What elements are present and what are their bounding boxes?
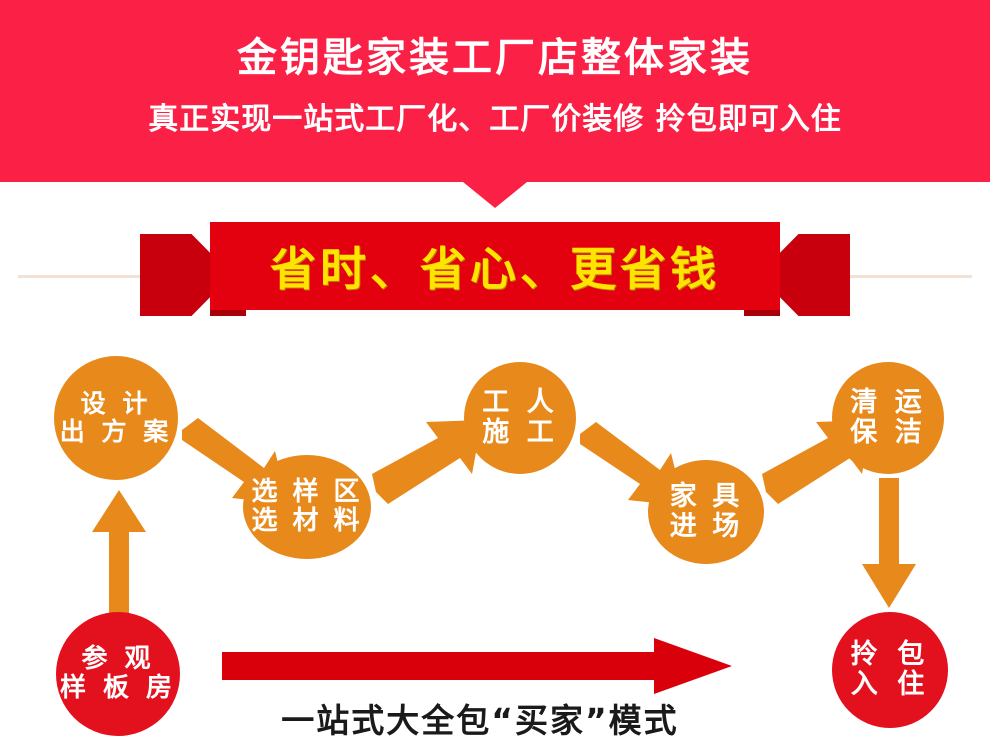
flow-node-cleanup-line2: 保 洁: [850, 418, 925, 448]
flow-node-design[interactable]: 设 计 出 方 案: [54, 356, 178, 480]
flow-node-movein-line2: 入 住: [851, 670, 929, 700]
arrow-showroom-to-design: [92, 490, 146, 615]
flow-node-showroom-line2: 样 板 房: [60, 674, 176, 703]
flow-node-movein-line1: 拎 包: [851, 640, 929, 670]
flow-node-select-materials[interactable]: 选 样 区 选 材 料: [243, 455, 371, 559]
flow-node-furniture-line2: 进 场: [670, 512, 742, 542]
bottom-process-arrow: [222, 638, 732, 694]
flow-node-construct-line2: 施 工: [482, 418, 557, 448]
flow-node-showroom-line1: 参 观: [81, 645, 154, 674]
flow-node-showroom-visit[interactable]: 参 观 样 板 房: [56, 612, 180, 736]
flow-node-construct-line1: 工 人: [482, 388, 557, 418]
flow-node-cleanup[interactable]: 清 运 保 洁: [832, 362, 944, 474]
bottom-caption: 一站式大全包“买家”模式: [180, 694, 780, 742]
process-flow-diagram: 设 计 出 方 案 选 样 区 选 材 料 工 人 施 工 家 具 进 场 清 …: [0, 0, 990, 746]
arrow-cleanup-to-movein: [862, 478, 916, 608]
flow-node-furniture-line1: 家 具: [670, 482, 742, 512]
flow-node-construction[interactable]: 工 人 施 工: [464, 362, 576, 474]
poster-canvas: 金钥匙家装工厂店整体家装 真正实现一站式工厂化、工厂价装修 拎包即可入住 省时、…: [0, 0, 990, 746]
flow-node-design-line2: 出 方 案: [60, 418, 172, 446]
flow-node-select-line1: 选 样 区: [251, 478, 362, 507]
flow-node-furniture-delivery[interactable]: 家 具 进 场: [648, 460, 764, 564]
flow-node-design-line1: 设 计: [81, 390, 152, 418]
flow-node-move-in[interactable]: 拎 包 入 住: [832, 612, 948, 728]
flow-node-select-line2: 选 材 料: [251, 507, 362, 536]
flow-node-cleanup-line1: 清 运: [850, 388, 925, 418]
